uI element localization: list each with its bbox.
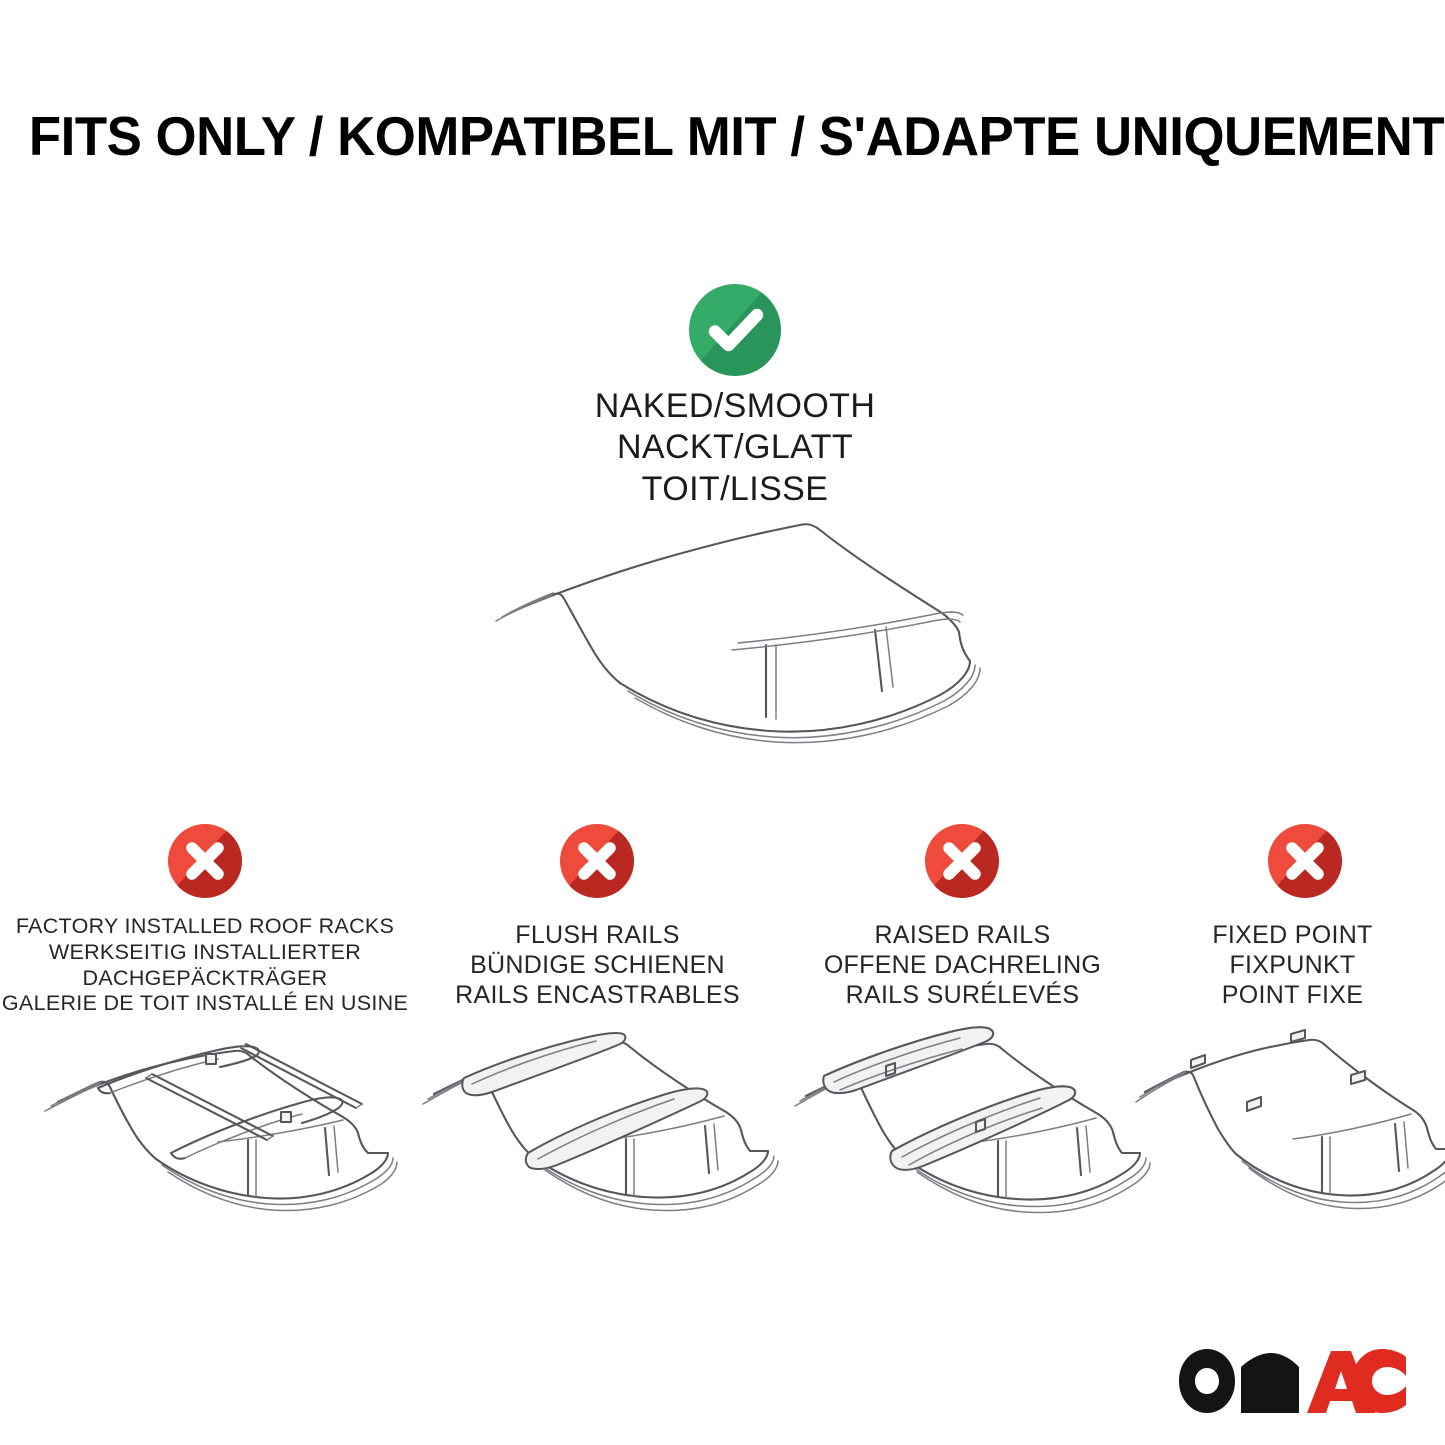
label-line-fr: POINT FIXE xyxy=(1140,980,1445,1010)
page-title: FITS ONLY / KOMPATIBEL MIT / S'ADAPTE UN… xyxy=(29,104,1416,168)
x-glyph xyxy=(560,824,634,898)
x-glyph xyxy=(925,824,999,898)
raised-rails-illustration xyxy=(790,1020,1175,1245)
fixed-point-illustration xyxy=(1135,1020,1445,1245)
flush-rails-illustration xyxy=(420,1020,805,1245)
check-glyph xyxy=(689,284,781,376)
incompatible-label-fixed-point: FIXED POINT FIXPUNKT POINT FIXE xyxy=(1140,920,1445,1010)
label-line-fr: RAILS SURÉLEVÉS xyxy=(785,980,1140,1010)
red-x-icon xyxy=(925,824,999,898)
label-line-de-1: WERKSEITIG INSTALLIERTER xyxy=(0,940,410,966)
green-check-icon xyxy=(689,284,781,376)
label-line-fr: GALERIE DE TOIT INSTALLÉ EN USINE xyxy=(0,991,410,1017)
red-x-icon xyxy=(1268,824,1342,898)
red-x-icon xyxy=(168,824,242,898)
logo-letter-o xyxy=(1179,1349,1235,1413)
label-line-de: BÜNDIGE SCHIENEN xyxy=(410,950,785,980)
red-x-icon xyxy=(560,824,634,898)
infographic-page: FITS ONLY / KOMPATIBEL MIT / S'ADAPTE UN… xyxy=(0,0,1445,1445)
factory-racks-illustration xyxy=(38,1020,423,1245)
compatible-label-de: NACKT/GLATT xyxy=(435,427,1035,468)
logo-letter-m xyxy=(1241,1353,1299,1413)
x-glyph xyxy=(1268,824,1342,898)
incompatible-label-factory-racks: FACTORY INSTALLED ROOF RACKS WERKSEITIG … xyxy=(0,914,410,1017)
label-line-de: OFFENE DACHRELING xyxy=(785,950,1140,980)
compatible-label-en: NAKED/SMOOTH xyxy=(435,386,1035,427)
x-glyph xyxy=(168,824,242,898)
label-line-en: RAISED RAILS xyxy=(785,920,1140,950)
incompatible-label-flush-rails: FLUSH RAILS BÜNDIGE SCHIENEN RAILS ENCAS… xyxy=(410,920,785,1010)
label-line-en: FIXED POINT xyxy=(1140,920,1445,950)
label-line-de-2: DACHGEPÄCKTRÄGER xyxy=(0,966,410,992)
compatible-label: NAKED/SMOOTH NACKT/GLATT TOIT/LISSE xyxy=(435,386,1035,510)
smooth-roof-illustration xyxy=(470,495,1015,750)
omac-logo xyxy=(1175,1345,1410,1417)
label-line-en: FACTORY INSTALLED ROOF RACKS xyxy=(0,914,410,940)
incompatible-label-raised-rails: RAISED RAILS OFFENE DACHRELING RAILS SUR… xyxy=(785,920,1140,1010)
label-line-fr: RAILS ENCASTRABLES xyxy=(410,980,785,1010)
label-line-de: FIXPUNKT xyxy=(1140,950,1445,980)
label-line-en: FLUSH RAILS xyxy=(410,920,785,950)
